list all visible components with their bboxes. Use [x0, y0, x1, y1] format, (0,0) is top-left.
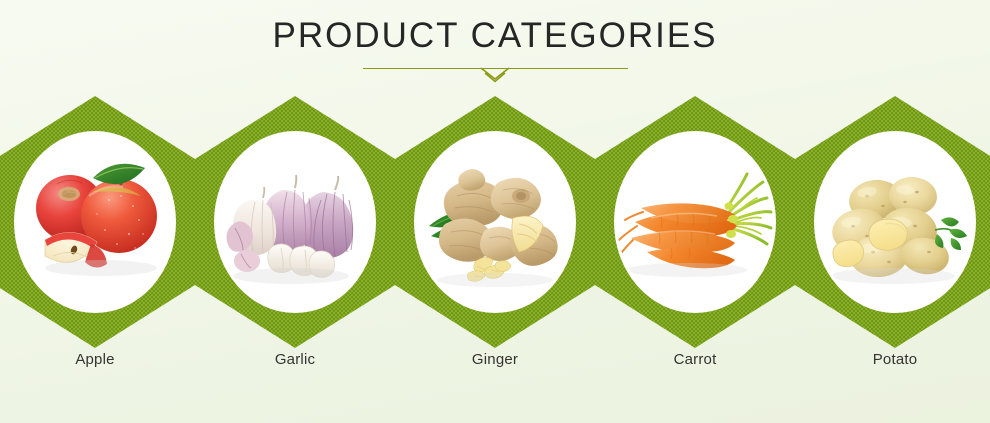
ginger-photo [417, 134, 573, 310]
double-chevron-down-icon [473, 64, 517, 88]
garlic-photo [217, 134, 373, 310]
category-card-ginger[interactable]: Ginger [395, 96, 595, 392]
category-card-garlic[interactable]: Garlic [195, 96, 395, 392]
carrot-photo [617, 134, 773, 310]
category-label: Apple [0, 350, 195, 370]
apple-photo [17, 134, 173, 310]
category-card-potato[interactable]: Potato [795, 96, 990, 392]
category-label: Ginger [395, 350, 595, 370]
page-header: PRODUCT CATEGORIES [0, 14, 990, 58]
category-label: Potato [795, 350, 990, 370]
category-card-carrot[interactable]: Carrot [595, 96, 795, 392]
page-title: PRODUCT CATEGORIES [0, 14, 990, 58]
category-list: Apple [0, 96, 990, 392]
category-label: Garlic [195, 350, 395, 370]
potato-photo [817, 134, 973, 310]
category-label: Carrot [595, 350, 795, 370]
title-divider [0, 66, 990, 88]
category-card-apple[interactable]: Apple [0, 96, 195, 392]
